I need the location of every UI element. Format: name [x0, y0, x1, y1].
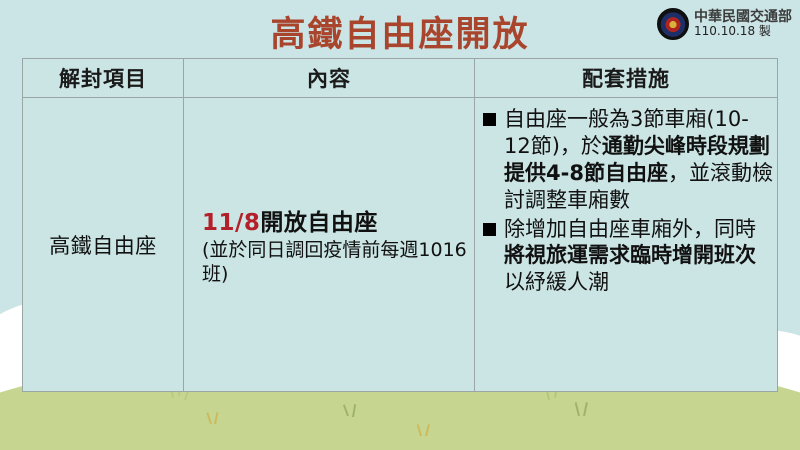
- measure-text-1: 自由座一般為3節車廂(10-12節)，於通勤尖峰時段規劃提供4-8節自由座，並滾…: [504, 106, 773, 214]
- column-header-measures: 配套措施: [474, 59, 777, 97]
- table-row: 高鐵自由座 11/8開放自由座 (並於同日調回疫情前每週1016班) 自由座一般…: [23, 98, 777, 391]
- motc-emblem-icon: [657, 8, 689, 40]
- slide-canvas: 高鐵自由座開放 中華民國交通部 110.10.18 製 解封項目 內容 配套措施…: [0, 0, 800, 450]
- content-date-highlight: 11/8: [202, 210, 260, 236]
- cell-measures: 自由座一般為3節車廂(10-12節)，於通勤尖峰時段規劃提供4-8節自由座，並滾…: [474, 98, 777, 391]
- content-headline-rest: 開放自由座: [260, 210, 378, 236]
- measure-text-2: 除增加自由座車廂外，同時將視旅運需求臨時增開班次以紓緩人潮: [504, 216, 773, 297]
- slide-header: 高鐵自由座開放 中華民國交通部 110.10.18 製: [0, 0, 800, 56]
- bullet-square-icon: [483, 223, 496, 236]
- cell-content: 11/8開放自由座 (並於同日調回疫情前每週1016班): [183, 98, 474, 391]
- content-headline: 11/8開放自由座: [202, 203, 378, 237]
- measure-bullet-1: 自由座一般為3節車廂(10-12節)，於通勤尖峰時段規劃提供4-8節自由座，並滾…: [483, 106, 773, 214]
- bullet-square-icon: [483, 113, 496, 126]
- measure-2-seg-3: 以紓緩人潮: [504, 270, 609, 294]
- issue-date: 110.10.18 製: [694, 25, 792, 39]
- cell-item-name: 高鐵自由座: [23, 98, 183, 391]
- column-header-content: 內容: [183, 59, 474, 97]
- measures-table: 解封項目 內容 配套措施 高鐵自由座 11/8開放自由座 (並於同日調回疫情前每…: [22, 58, 778, 392]
- measure-bullet-2: 除增加自由座車廂外，同時將視旅運需求臨時增開班次以紓緩人潮: [483, 216, 773, 297]
- measure-2-seg-1: 除增加自由座車廂外，同時: [504, 217, 756, 241]
- column-header-item: 解封項目: [23, 59, 183, 97]
- content-note: (並於同日調回疫情前每週1016班): [202, 239, 468, 287]
- issuer-texts: 中華民國交通部 110.10.18 製: [694, 8, 792, 39]
- issuer-stamp: 中華民國交通部 110.10.18 製: [657, 8, 792, 40]
- measure-2-seg-2: 將視旅運需求臨時增開班次: [504, 243, 756, 267]
- issuer-name: 中華民國交通部: [694, 9, 792, 25]
- table-header-row: 解封項目 內容 配套措施: [23, 59, 777, 98]
